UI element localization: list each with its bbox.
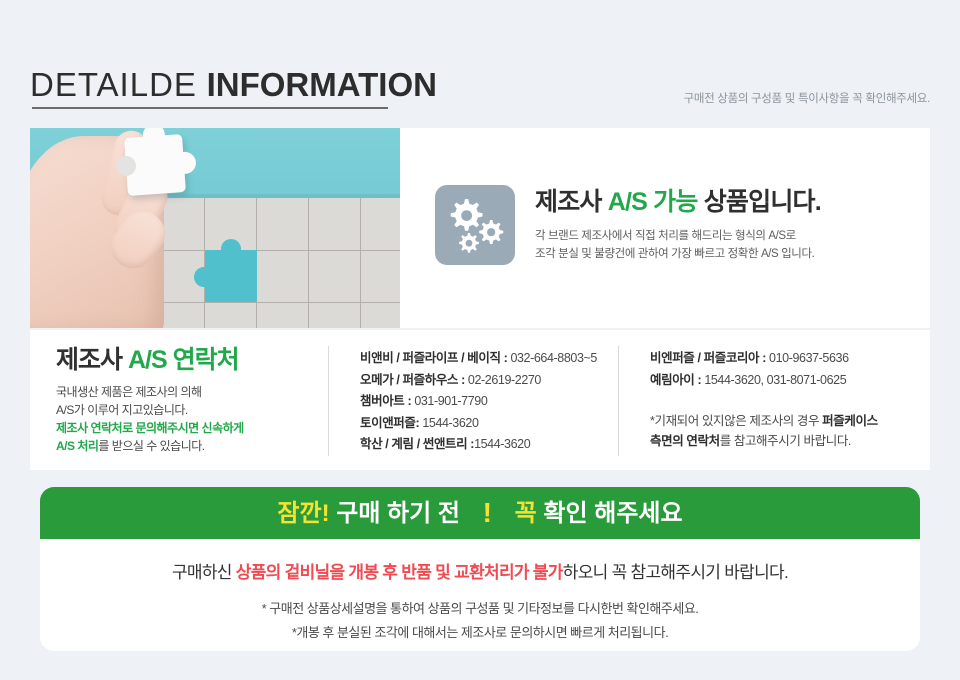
as-claim-title-suffix: 상품입니다. bbox=[698, 188, 821, 216]
title-underline bbox=[32, 107, 388, 109]
contact-desc-line-4: A/S 처리를 받으실 수 있습니다. bbox=[56, 437, 326, 455]
notice-main-text: 구매하신 상품의 겉비닐을 개봉 후 반품 및 교환처리가 불가하오니 꼭 참고… bbox=[40, 561, 920, 585]
as-claim-sub-line-2: 조각 분실 및 불량건에 관하여 가장 빠르고 정확한 A/S 입니다. bbox=[535, 245, 935, 263]
contact-footnote-prefix: *기재되어 있지않은 제조사의 경우 bbox=[650, 414, 822, 428]
contact-row: 예림아이 : 1544-3620, 031-8071-0625 bbox=[650, 370, 940, 392]
contact-brand: 비앤비 / 퍼즐라이프 / 베이직 : bbox=[360, 351, 507, 365]
contact-footnote-suffix: 를 참고해주시기 바랍니다. bbox=[720, 434, 851, 448]
contact-footnote-line-2: 측면의 연락처를 참고해주시기 바랍니다. bbox=[650, 431, 940, 451]
contact-phone: 1544-3620, 031-8071-0625 bbox=[701, 373, 846, 387]
contact-footnote-bold-1: 퍼즐케이스 bbox=[822, 414, 878, 428]
notice-main-prefix: 구매하신 bbox=[172, 563, 236, 582]
notice-card: 구매하신 상품의 겉비닐을 개봉 후 반품 및 교환처리가 불가하오니 꼭 참고… bbox=[40, 539, 920, 651]
contact-list-middle: 비앤비 / 퍼즐라이프 / 베이직 : 032-664-8803~5 오메가 /… bbox=[360, 348, 610, 456]
header-note: 구매전 상품의 구성품 및 특이사항을 꼭 확인해주세요. bbox=[684, 90, 930, 106]
held-puzzle-piece bbox=[124, 134, 186, 196]
contact-row: 비엔퍼즐 / 퍼즐코리아 : 010-9637-5636 bbox=[650, 348, 940, 370]
page-title-bold: INFORMATION bbox=[207, 66, 437, 103]
contact-heading-prefix: 제조사 bbox=[56, 346, 128, 374]
contact-divider-right bbox=[618, 346, 619, 456]
contact-phone: 1544-3620 bbox=[419, 416, 478, 430]
page-title-light: DETAILDE bbox=[30, 66, 197, 103]
contact-footnote: *기재되어 있지않은 제조사의 경우 퍼즐케이스 측면의 연락처를 참고해주시기… bbox=[650, 411, 940, 451]
as-claim-subtext: 각 브랜드 제조사에서 직접 처리를 해드리는 형식의 A/S로 조각 분실 및… bbox=[535, 227, 935, 263]
puzzle-grid bbox=[152, 198, 400, 328]
puzzle-empty-slot bbox=[205, 250, 257, 302]
contact-phone: 02-2619-2270 bbox=[465, 373, 541, 387]
gears-icon bbox=[435, 185, 515, 265]
contact-row: 비앤비 / 퍼즐라이프 / 베이직 : 032-664-8803~5 bbox=[360, 348, 610, 370]
contact-row: 토이앤퍼즐: 1544-3620 bbox=[360, 413, 610, 435]
puzzle-photo bbox=[30, 128, 400, 328]
as-claim: 제조사 A/S 가능 상품입니다. 각 브랜드 제조사에서 직접 처리를 해드리… bbox=[535, 186, 935, 263]
as-claim-sub-line-1: 각 브랜드 제조사에서 직접 처리를 해드리는 형식의 A/S로 bbox=[535, 227, 935, 245]
contact-panel: 제조사 A/S 연락처 국내생산 제품은 제조사의 의해 A/S가 이루어 지고… bbox=[30, 330, 930, 470]
contact-divider-left bbox=[328, 346, 329, 456]
contact-desc-line-2: A/S가 이루어 지고있습니다. bbox=[56, 401, 326, 419]
contact-desc-line-3: 제조사 연락처로 문의해주시면 신속하게 bbox=[56, 419, 326, 437]
contact-intro: 제조사 A/S 연락처 국내생산 제품은 제조사의 의해 A/S가 이루어 지고… bbox=[56, 344, 326, 455]
as-claim-title-prefix: 제조사 bbox=[535, 188, 608, 216]
as-claim-title: 제조사 A/S 가능 상품입니다. bbox=[535, 186, 935, 218]
contact-brand: 비엔퍼즐 / 퍼즐코리아 : bbox=[650, 351, 766, 365]
contact-row: 챔버아트 : 031-901-7790 bbox=[360, 391, 610, 413]
contact-phone: 031-901-7790 bbox=[411, 394, 487, 408]
contact-brand: 토이앤퍼즐: bbox=[360, 416, 419, 430]
warning-banner-text: 잠깐! 구매 하기 전 ! 꼭 확인 해주세요 bbox=[277, 486, 682, 540]
warning-banner-white-1: 구매 하기 전 bbox=[336, 500, 460, 527]
contact-footnote-bold-2: 측면의 연락처 bbox=[650, 434, 720, 448]
contact-desc-line-4-rest: 를 받으실 수 있습니다. bbox=[98, 439, 204, 453]
contact-brand: 오메가 / 퍼즐하우스 : bbox=[360, 373, 465, 387]
notice-main-highlight: 상품의 겉비닐을 개봉 후 반품 및 교환처리가 불가 bbox=[236, 563, 563, 582]
contact-desc-line-1: 국내생산 제품은 제조사의 의해 bbox=[56, 383, 326, 401]
contact-phone: 010-9637-5636 bbox=[766, 351, 849, 365]
puzzle-piece-notch bbox=[115, 155, 136, 176]
hero-panel: 제조사 A/S 가능 상품입니다. 각 브랜드 제조사에서 직접 처리를 해드리… bbox=[30, 128, 930, 328]
warning-banner-white-2: 확인 해주세요 bbox=[543, 500, 682, 527]
warning-banner-yellow-1: 잠깐! bbox=[277, 500, 329, 527]
notice-sub-text-1: * 구매전 상품상세설명을 통하여 상품의 구성품 및 기타정보를 다시한번 확… bbox=[40, 599, 920, 619]
contact-heading: 제조사 A/S 연락처 bbox=[56, 344, 326, 376]
warning-banner-yellow-2: 꼭 bbox=[515, 500, 537, 527]
contact-phone: 032-664-8803~5 bbox=[507, 351, 597, 365]
contact-row: 학산 / 계림 / 썬앤트리 :1544-3620 bbox=[360, 434, 610, 456]
contact-row: 오메가 / 퍼즐하우스 : 02-2619-2270 bbox=[360, 370, 610, 392]
contact-footnote-line-1: *기재되어 있지않은 제조사의 경우 퍼즐케이스 bbox=[650, 411, 940, 431]
notice-sub-text-2: *개봉 후 분실된 조각에 대해서는 제조사로 문의하시면 빠르게 처리됩니다. bbox=[40, 623, 920, 643]
contact-desc-line-4-green: A/S 처리 bbox=[56, 439, 98, 453]
contact-heading-highlight: A/S 연락처 bbox=[128, 346, 239, 374]
contact-brand: 학산 / 계림 / 썬앤트리 : bbox=[360, 437, 474, 451]
contact-description: 국내생산 제품은 제조사의 의해 A/S가 이루어 지고있습니다. 제조사 연락… bbox=[56, 383, 326, 455]
contact-brand: 챔버아트 : bbox=[360, 394, 411, 408]
warning-banner: 잠깐! 구매 하기 전 ! 꼭 확인 해주세요 bbox=[40, 487, 920, 539]
page-title: DETAILDE INFORMATION bbox=[30, 66, 437, 104]
contact-phone: 1544-3620 bbox=[474, 437, 530, 451]
contact-list-right: 비엔퍼즐 / 퍼즐코리아 : 010-9637-5636 예림아이 : 1544… bbox=[650, 348, 940, 451]
contact-brand: 예림아이 : bbox=[650, 373, 701, 387]
as-claim-title-highlight: A/S 가능 bbox=[608, 188, 698, 216]
notice-main-suffix: 하오니 꼭 참고해주시기 바랍니다. bbox=[563, 563, 788, 582]
exclamation-icon: ! bbox=[483, 487, 492, 539]
page-header: DETAILDE INFORMATION 구매전 상품의 구성품 및 특이사항을… bbox=[30, 66, 930, 114]
